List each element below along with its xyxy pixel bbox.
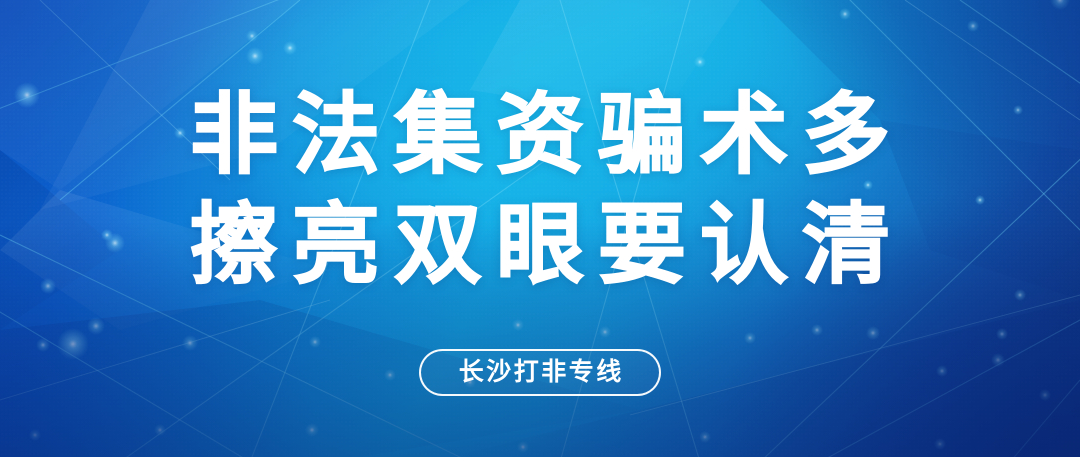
hotline-badge[interactable]: 长沙打非专线: [419, 349, 661, 396]
headline-line-2: 擦亮双眼要认清: [0, 190, 1080, 300]
badge-container: 长沙打非专线: [0, 349, 1080, 396]
headline-line-1: 非法集资骗术多: [0, 80, 1080, 190]
bottom-white-strip: [0, 457, 1080, 462]
headline: 非法集资骗术多 擦亮双眼要认清: [0, 80, 1080, 300]
promo-banner: 非法集资骗术多 擦亮双眼要认清 长沙打非专线: [0, 0, 1080, 462]
